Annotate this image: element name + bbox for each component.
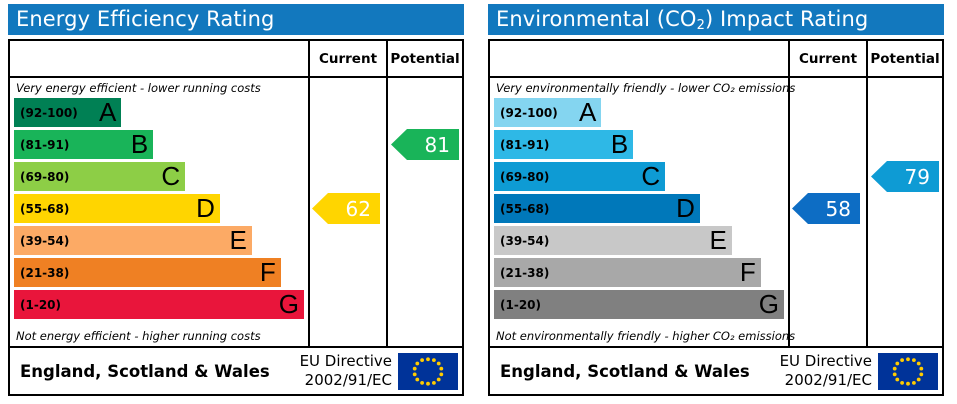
potential-rating-cell: 79 xyxy=(868,98,942,326)
top-efficiency-note: Very environmentally friendly - lower CO… xyxy=(490,78,788,98)
band-c: (69-80) C xyxy=(494,162,665,191)
band-f: (21-38) F xyxy=(14,258,281,287)
column-header-potential: Potential xyxy=(868,41,942,78)
footer-region-label: England, Scotland & Wales xyxy=(490,348,758,394)
footer-directive-line1: EU Directive xyxy=(300,352,392,371)
chart-footer: England, Scotland & Wales EU Directive 2… xyxy=(10,348,462,394)
band-b-range: (81-91) xyxy=(20,130,69,159)
band-c-range: (69-80) xyxy=(500,162,549,191)
footer-directive-line1: EU Directive xyxy=(780,352,872,371)
band-g: (1-20) G xyxy=(14,290,304,319)
footer-directive: EU Directive 2002/91/EC xyxy=(278,348,396,394)
footer-directive-line2: 2002/91/EC xyxy=(305,371,392,390)
band-e-range: (39-54) xyxy=(20,226,69,255)
band-d: (55-68) D xyxy=(494,194,700,223)
band-d-range: (55-68) xyxy=(20,194,69,223)
current-rating-cell: 58 xyxy=(790,98,866,326)
band-e-letter: E xyxy=(229,226,246,255)
column-header-current: Current xyxy=(790,41,866,78)
band-e-letter: E xyxy=(709,226,726,255)
band-a-range: (92-100) xyxy=(500,98,558,127)
current-rating-cell: 62 xyxy=(310,98,386,326)
potential-rating-arrow: 79 xyxy=(871,161,939,192)
chart-frame: Current Potential Very energy efficient … xyxy=(8,39,464,396)
current-rating-arrow: 58 xyxy=(792,193,860,224)
footer-directive: EU Directive 2002/91/EC xyxy=(758,348,876,394)
band-c: (69-80) C xyxy=(14,162,185,191)
chart-title: Energy Efficiency Rating xyxy=(8,4,464,35)
column-header-row: Current Potential xyxy=(490,41,942,78)
band-g-range: (1-20) xyxy=(20,290,61,319)
bottom-efficiency-note: Not energy efficient - higher running co… xyxy=(10,326,308,346)
column-header-row: Current Potential xyxy=(10,41,462,78)
chart-title-prefix: Environmental (CO xyxy=(496,7,697,31)
band-g-range: (1-20) xyxy=(500,290,541,319)
band-b: (81-91) B xyxy=(14,130,153,159)
potential-rating-cell: 81 xyxy=(388,98,462,326)
column-header-current: Current xyxy=(310,41,386,78)
column-header-potential: Potential xyxy=(388,41,462,78)
band-g-letter: G xyxy=(279,290,299,319)
band-g: (1-20) G xyxy=(494,290,784,319)
band-e-range: (39-54) xyxy=(500,226,549,255)
epc-charts-container: Energy Efficiency Rating Current Potenti… xyxy=(0,0,957,404)
band-b-letter: B xyxy=(131,130,148,159)
band-f-letter: F xyxy=(740,258,756,287)
chart-title-subscript: 2 xyxy=(697,18,705,33)
footer-directive-line2: 2002/91/EC xyxy=(785,371,872,390)
band-d-range: (55-68) xyxy=(500,194,549,223)
eu-flag-icon xyxy=(878,353,938,390)
rating-bands: (92-100) A (81-91) B (69-80) C (55-68) D… xyxy=(10,98,308,326)
footer-region-label: England, Scotland & Wales xyxy=(10,348,278,394)
chart-title-suffix: ) Impact Rating xyxy=(705,7,868,31)
band-a-range: (92-100) xyxy=(20,98,78,127)
band-a-letter: A xyxy=(99,98,116,127)
band-f: (21-38) F xyxy=(494,258,761,287)
band-g-letter: G xyxy=(759,290,779,319)
band-c-letter: C xyxy=(641,162,660,191)
band-d-letter: D xyxy=(676,194,695,223)
energy-efficiency-rating-chart: Energy Efficiency Rating Current Potenti… xyxy=(0,0,478,404)
band-e: (39-54) E xyxy=(14,226,252,255)
bottom-efficiency-note: Not environmentally friendly - higher CO… xyxy=(490,326,788,346)
chart-footer: England, Scotland & Wales EU Directive 2… xyxy=(490,348,942,394)
band-b-letter: B xyxy=(611,130,628,159)
band-c-range: (69-80) xyxy=(20,162,69,191)
eu-flag-icon xyxy=(398,353,458,390)
rating-bands: (92-100) A (81-91) B (69-80) C (55-68) D… xyxy=(490,98,788,326)
potential-rating-arrow: 81 xyxy=(391,129,459,160)
band-a: (92-100) A xyxy=(494,98,601,127)
band-a-letter: A xyxy=(579,98,596,127)
chart-title: Environmental (CO2) Impact Rating xyxy=(488,4,944,35)
band-f-letter: F xyxy=(260,258,276,287)
band-b-range: (81-91) xyxy=(500,130,549,159)
band-f-range: (21-38) xyxy=(20,258,69,287)
band-d: (55-68) D xyxy=(14,194,220,223)
top-efficiency-note: Very energy efficient - lower running co… xyxy=(10,78,308,98)
band-a: (92-100) A xyxy=(14,98,121,127)
band-b: (81-91) B xyxy=(494,130,633,159)
environmental-co2-impact-rating-chart: Environmental (CO2) Impact Rating Curren… xyxy=(480,0,957,404)
band-f-range: (21-38) xyxy=(500,258,549,287)
band-c-letter: C xyxy=(161,162,180,191)
current-rating-arrow: 62 xyxy=(312,193,380,224)
chart-frame: Current Potential Very environmentally f… xyxy=(488,39,944,396)
band-e: (39-54) E xyxy=(494,226,732,255)
band-d-letter: D xyxy=(196,194,215,223)
